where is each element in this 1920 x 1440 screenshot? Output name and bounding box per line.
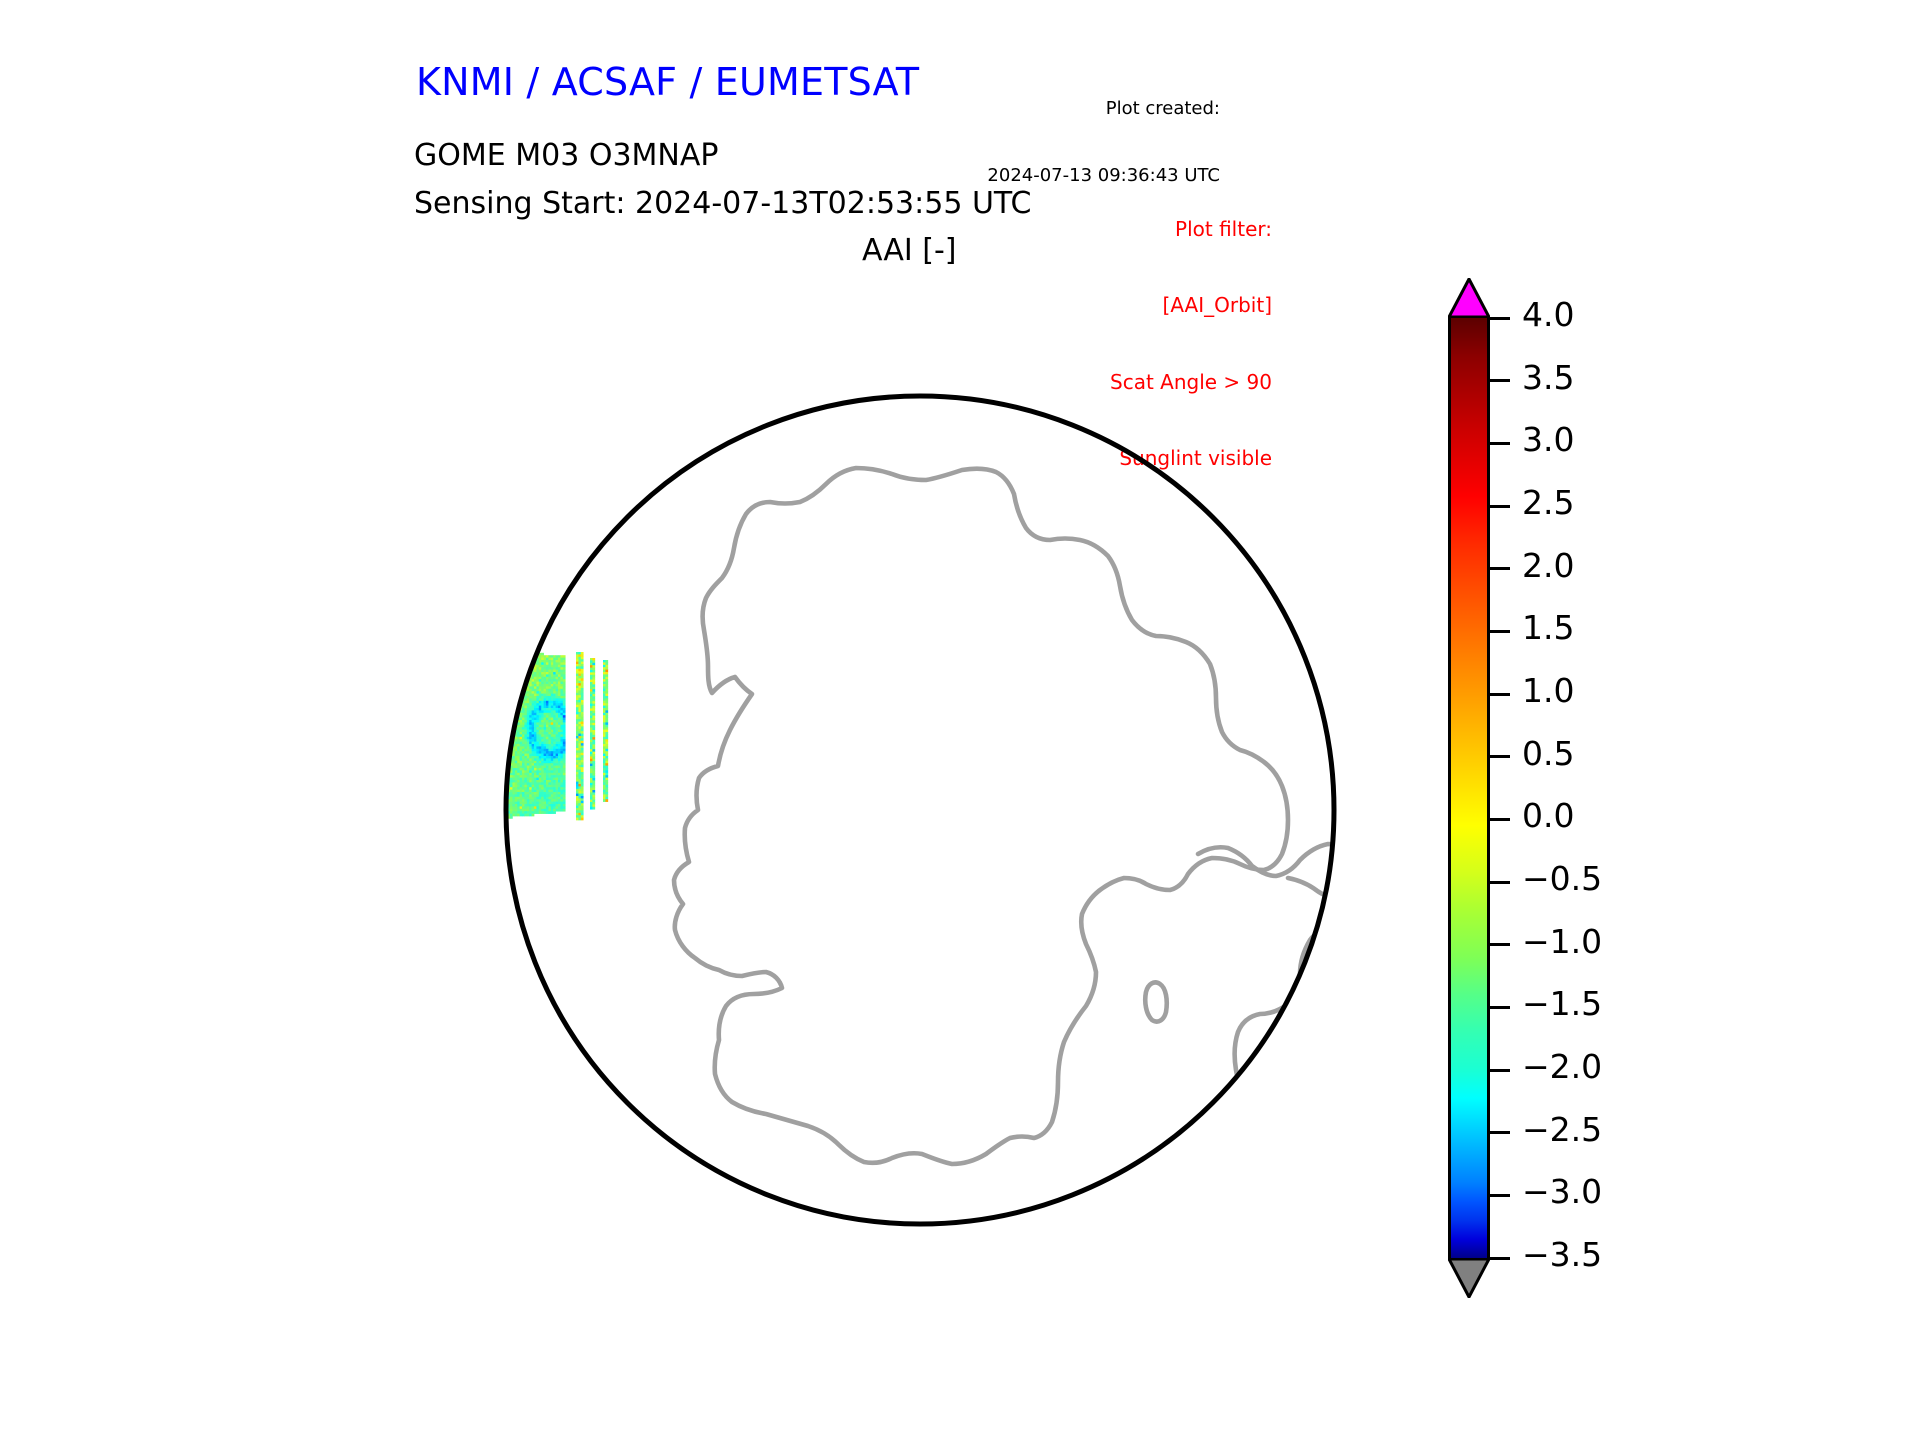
colorbar-tick: [1490, 1257, 1510, 1260]
colorbar-tick: [1490, 755, 1510, 758]
sensing-start: Sensing Start: 2024-07-13T02:53:55 UTC: [414, 186, 1031, 221]
agency-title: KNMI / ACSAF / EUMETSAT: [416, 60, 919, 105]
map-svg: [390, 280, 1450, 1340]
new-zealand-south-island: [701, 313, 778, 420]
campbell-island: [433, 343, 452, 368]
colorbar-tick-label: 3.5: [1522, 358, 1574, 397]
colorbar-tick-label: −1.0: [1522, 922, 1602, 961]
coastal-island-b: [1405, 978, 1430, 1018]
colorbar-tick-label: 0.5: [1522, 734, 1574, 773]
colorbar-tick-label: 1.0: [1522, 671, 1574, 710]
auckland-islands: [478, 376, 510, 422]
colorbar-tick: [1490, 943, 1510, 946]
colorbar-tick-label: 2.5: [1522, 483, 1574, 522]
colorbar-tick-label: −3.0: [1522, 1172, 1602, 1211]
colorbar-tick: [1490, 442, 1510, 445]
colorbar-under-range-arrow: [1448, 1258, 1490, 1298]
colorbar-tick-label: 0.0: [1522, 796, 1574, 835]
colorbar-tick: [1490, 630, 1510, 633]
polar-map-panel: [390, 280, 1450, 1340]
plot-filter-label: Plot filter:: [1110, 215, 1272, 244]
coastal-island-d: [1369, 1116, 1384, 1138]
colorbar-tick: [1490, 818, 1510, 821]
colorbar-tick: [1490, 505, 1510, 508]
map-boundary-circle: [506, 396, 1334, 1224]
colorbar-tick-label: 1.5: [1522, 608, 1574, 647]
tasmania: [1145, 982, 1167, 1021]
colorbar-tick-label: 2.0: [1522, 546, 1574, 585]
colorbar-tick: [1490, 881, 1510, 884]
new-zealand-north-island: [774, 280, 833, 349]
quantity-label: AAI [-]: [862, 233, 957, 268]
colorbar-panel: 4.03.53.02.52.01.51.00.50.0−0.5−1.0−1.5−…: [1448, 278, 1748, 1318]
coastal-island-a: [1318, 936, 1334, 960]
colorbar-tick-label: −0.5: [1522, 859, 1602, 898]
coastal-island-c: [1326, 1099, 1363, 1155]
colorbar-tick-label: −2.0: [1522, 1047, 1602, 1086]
colorbar-tick: [1490, 379, 1510, 382]
colorbar-tick-label: −1.5: [1522, 984, 1602, 1023]
colorbar-tick: [1490, 567, 1510, 570]
colorbar-gradient: [1448, 318, 1490, 1258]
antarctica-coastline: [674, 468, 1288, 1164]
colorbar-tick-label: −2.5: [1522, 1110, 1602, 1149]
coastline-layer: [433, 280, 1450, 1164]
colorbar-over-range-arrow: [1448, 278, 1490, 318]
colorbar-tick: [1490, 1069, 1510, 1072]
colorbar-tick: [1490, 1006, 1510, 1009]
colorbar-tick: [1490, 693, 1510, 696]
colorbar-tick-label: −3.5: [1522, 1235, 1602, 1274]
colorbar-tick: [1490, 1194, 1510, 1197]
colorbar-tick: [1490, 1131, 1510, 1134]
colorbar-tick-label: 3.0: [1522, 420, 1574, 459]
australia-inner-detail: [1288, 878, 1356, 898]
aai-swath-layer: [505, 652, 608, 820]
colorbar-tick-label: 4.0: [1522, 295, 1574, 334]
plot-created-label: Plot created:: [987, 97, 1220, 121]
colorbar-tick: [1490, 317, 1510, 320]
product-title: GOME M03 O3MNAP: [414, 138, 718, 173]
